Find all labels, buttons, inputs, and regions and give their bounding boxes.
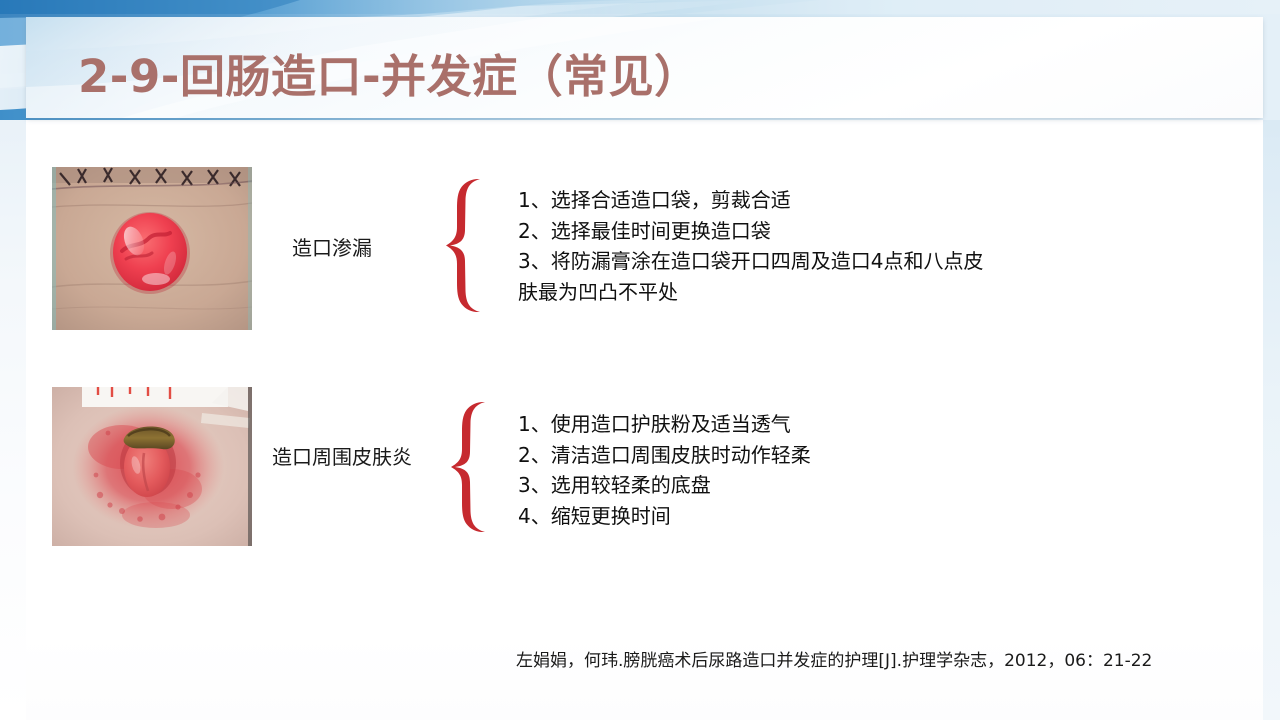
- slide-root: 2-9-回肠造口-并发症（常见）: [0, 0, 1280, 720]
- text-line: 1、使用造口护肤粉及适当透气: [518, 409, 811, 440]
- brace-icon-1: [443, 176, 487, 315]
- dermatitis-photo-graphic: [52, 387, 252, 546]
- curly-brace-icon: [443, 176, 487, 315]
- citation-text: 左娟娟，何玮.膀胱癌术后尿路造口并发症的护理[J].护理学杂志，2012，06：…: [516, 646, 1152, 671]
- text-line: 肤最为凹凸不平处: [518, 277, 983, 308]
- stoma-leakage-photo: [52, 167, 252, 330]
- text-line: 2、清洁造口周围皮肤时动作轻柔: [518, 440, 811, 471]
- section-text-2: 1、使用造口护肤粉及适当透气 2、清洁造口周围皮肤时动作轻柔 3、选用较轻柔的底…: [518, 409, 811, 531]
- section-caption-2: 造口周围皮肤炎: [272, 441, 412, 470]
- curly-brace-icon: [448, 399, 492, 535]
- section-caption-1: 造口渗漏: [292, 232, 372, 261]
- peristomal-dermatitis-photo: [52, 387, 252, 546]
- title-panel: 2-9-回肠造口-并发症（常见）: [26, 17, 1263, 118]
- page-title: 2-9-回肠造口-并发症（常见）: [78, 49, 700, 105]
- brace-icon-2: [448, 399, 492, 535]
- text-line: 1、选择合适造口袋，剪裁合适: [518, 185, 983, 216]
- section-text-1: 1、选择合适造口袋，剪裁合适 2、选择最佳时间更换造口袋 3、将防漏膏涂在造口袋…: [518, 185, 983, 307]
- stoma-photo-graphic: [52, 167, 252, 330]
- text-line: 4、缩短更换时间: [518, 501, 811, 532]
- text-line: 3、将防漏膏涂在造口袋开口四周及造口4点和八点皮: [518, 246, 983, 277]
- text-line: 2、选择最佳时间更换造口袋: [518, 216, 983, 247]
- text-line: 3、选用较轻柔的底盘: [518, 470, 811, 501]
